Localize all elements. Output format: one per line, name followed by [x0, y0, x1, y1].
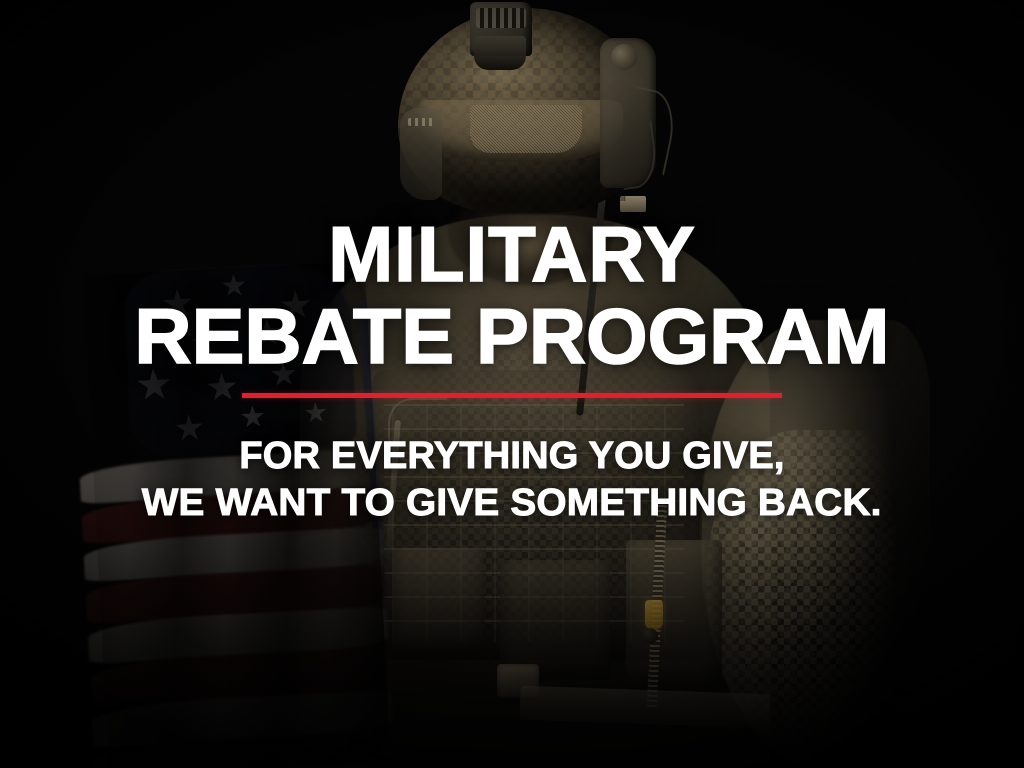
- red-divider-rule: [242, 393, 782, 398]
- military-rebate-program-poster: III: [0, 0, 1024, 768]
- headline-line-2: REBATE PROGRAM: [134, 298, 889, 374]
- poster-text-overlay: MILITARY REBATE PROGRAM FOR EVERYTHING Y…: [0, 0, 1024, 768]
- subheadline-line-2: WE WANT TO GIVE SOMETHING BACK.: [142, 481, 882, 526]
- subheadline-line-1: FOR EVERYTHING YOU GIVE,: [239, 434, 784, 479]
- headline-line-1: MILITARY: [328, 216, 696, 292]
